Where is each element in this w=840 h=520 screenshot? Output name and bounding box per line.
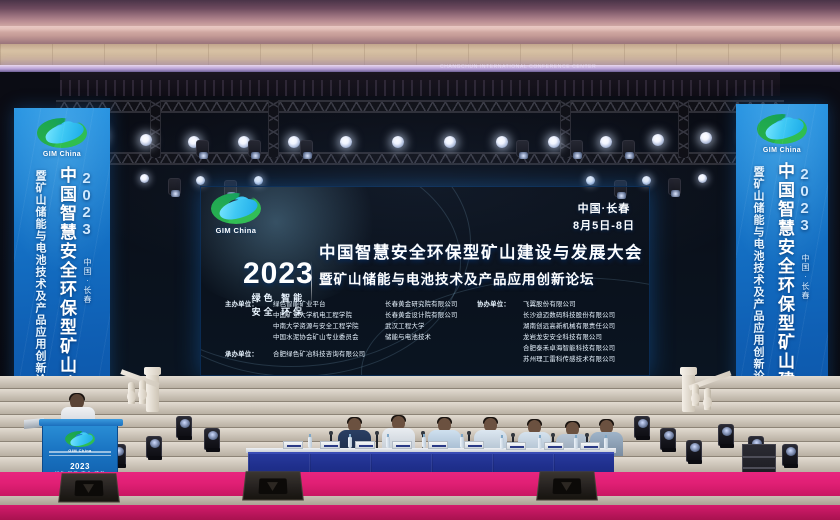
baluster bbox=[704, 388, 711, 410]
step bbox=[0, 389, 840, 402]
truss-vertical-left bbox=[150, 100, 161, 158]
moving-head-light bbox=[196, 140, 209, 157]
truss-vertical-midleft bbox=[268, 100, 279, 158]
lighting-truss-mid bbox=[56, 152, 784, 165]
name-plate bbox=[355, 441, 375, 449]
spotlight bbox=[140, 174, 149, 183]
name-plate bbox=[580, 442, 600, 450]
gim-logo-icon: GIM China bbox=[37, 118, 87, 158]
host-label: 主办单位： bbox=[225, 299, 273, 310]
credits-block: 主办单位： 绿色智能矿业平台 长春黄金研究院有限公司 中国矿业大学机电工程学院 … bbox=[225, 299, 639, 360]
cohost-item: 龙岩龙安安全科技有限公司 bbox=[523, 332, 615, 343]
spotlight bbox=[700, 132, 712, 144]
stage-carpet bbox=[0, 472, 840, 498]
baluster bbox=[692, 384, 699, 406]
floor-moving-light bbox=[718, 424, 734, 446]
hall-sign-text: CHANGCHUN INTERNATIONAL CONFERENCE CENTE… bbox=[440, 64, 596, 70]
host-item: 绿色智能矿业平台 bbox=[273, 299, 385, 310]
spotlight bbox=[288, 136, 300, 148]
stage-monitor-wedge bbox=[58, 473, 120, 502]
spotlight bbox=[444, 136, 456, 148]
lighting-truss-top bbox=[56, 100, 784, 113]
table-microphone bbox=[376, 434, 378, 449]
spotlight bbox=[652, 134, 664, 146]
host-item: 武汉工程大学 bbox=[385, 321, 491, 332]
step bbox=[0, 428, 840, 442]
host-item: 长春黄金研究院有限公司 bbox=[385, 299, 491, 310]
cohost-item: 湖南创远高新机械有限责任公司 bbox=[523, 321, 615, 332]
water-bottle bbox=[604, 438, 608, 449]
cohost-label: 协办单位： bbox=[477, 299, 523, 365]
stone-cornice bbox=[0, 44, 840, 66]
moving-head-light bbox=[248, 140, 261, 157]
spotlight bbox=[392, 136, 404, 148]
spacer bbox=[225, 321, 273, 332]
water-bottle bbox=[422, 437, 426, 448]
conference-stage-photo: CHANGCHUN INTERNATIONAL CONFERENCE CENTE… bbox=[0, 0, 840, 520]
floor-moving-light bbox=[176, 416, 192, 438]
stage-monitor-wedge bbox=[242, 471, 304, 500]
cohost-list: 飞翼股份有限公司 长沙迪迈数码科技股份有限公司 湖南创远高新机械有限责任公司 龙… bbox=[523, 299, 615, 365]
organizer-label: 承办单位： bbox=[225, 349, 273, 360]
host-item: 中南大学资源与安全工程学院 bbox=[273, 321, 385, 332]
name-plate bbox=[283, 441, 303, 449]
spotlight bbox=[586, 176, 595, 185]
name-plate bbox=[544, 442, 564, 450]
name-plate bbox=[320, 441, 340, 449]
credits-cohost-block: 协办单位： 飞翼股份有限公司 长沙迪迈数码科技股份有限公司 湖南创远高新机械有限… bbox=[477, 299, 615, 365]
gim-logo-icon: GIM China bbox=[65, 431, 95, 453]
cohost-item: 合肥泰禾卓海智能科技有限公司 bbox=[523, 343, 615, 354]
host-item: 中国水泥协会矿山专业委员会 bbox=[273, 332, 385, 343]
cohost-item: 飞翼股份有限公司 bbox=[523, 299, 615, 310]
truss-vertical-right bbox=[678, 100, 689, 158]
water-bottle bbox=[348, 437, 352, 448]
name-plate bbox=[464, 441, 484, 449]
stage-monitor-wedge bbox=[536, 471, 598, 500]
moving-head-light bbox=[668, 178, 681, 195]
floor-moving-light bbox=[660, 428, 676, 450]
baluster bbox=[139, 380, 146, 404]
spotlight bbox=[496, 136, 508, 148]
cohost-item: 苏州理工雷科传感技术有限公司 bbox=[523, 354, 615, 365]
water-bottle bbox=[460, 437, 464, 448]
floor-moving-light bbox=[204, 428, 220, 450]
moving-head-light bbox=[168, 178, 181, 195]
step bbox=[0, 402, 840, 415]
spotlight bbox=[196, 176, 205, 185]
spotlight bbox=[600, 136, 612, 148]
spotlight bbox=[254, 176, 263, 185]
host-item: 中国矿业大学机电工程学院 bbox=[273, 310, 385, 321]
host-item: 长春黄金设计院有限公司 bbox=[385, 310, 491, 321]
event-title-main: 中国智慧安全环保型矿山建设与发展大会 bbox=[319, 239, 641, 263]
podium-text-lines bbox=[49, 451, 111, 458]
ceiling-led-strip bbox=[0, 65, 840, 72]
name-plate bbox=[428, 441, 448, 449]
podium-top-surface bbox=[39, 419, 123, 426]
gim-logo-icon: GIM China bbox=[211, 193, 261, 235]
main-led-screen: GIM China 中国·长春 8月5日-8日 2023 绿色 智能 安全 环保… bbox=[200, 186, 650, 376]
water-bottle bbox=[386, 437, 390, 448]
spotlight bbox=[548, 136, 560, 148]
event-dates: 8月5日-8日 bbox=[573, 218, 635, 235]
water-bottle bbox=[538, 438, 542, 449]
moving-head-light bbox=[570, 140, 583, 157]
event-year: 2023 bbox=[243, 259, 314, 289]
water-bottle bbox=[574, 438, 578, 449]
baluster bbox=[128, 382, 135, 404]
hall-ceiling bbox=[0, 0, 840, 46]
event-location-dates: 中国·长春 8月5日-8日 bbox=[573, 201, 635, 235]
event-title-block: 中国智慧安全环保型矿山建设与发展大会 暨矿山储能与电池技术及产品应用创新论坛 bbox=[319, 239, 641, 288]
event-location: 中国·长春 bbox=[573, 201, 635, 218]
organizer-value: 合肥绿色矿冶科技咨询有限公司 bbox=[273, 349, 365, 360]
moving-head-light bbox=[300, 140, 313, 157]
floor-moving-light bbox=[782, 444, 798, 466]
floor-moving-light bbox=[686, 440, 702, 462]
cohost-item: 长沙迪迈数码科技股份有限公司 bbox=[523, 310, 615, 321]
water-bottle bbox=[500, 438, 504, 449]
step bbox=[0, 415, 840, 428]
moving-head-light bbox=[622, 140, 635, 157]
event-title-sub: 暨矿山储能与电池技术及产品应用创新论坛 bbox=[319, 268, 641, 288]
name-plate bbox=[392, 441, 412, 449]
podium-year: 2023 bbox=[43, 462, 117, 471]
host-item: 储能与电池技术 bbox=[385, 332, 491, 343]
floor-moving-light bbox=[146, 436, 162, 458]
spotlight bbox=[140, 134, 152, 146]
spacer bbox=[225, 332, 273, 343]
moving-head-light bbox=[516, 140, 529, 157]
spotlight bbox=[340, 136, 352, 148]
floor-moving-light bbox=[634, 416, 650, 438]
spotlight bbox=[698, 174, 707, 183]
gim-logo-icon: GIM China bbox=[757, 114, 807, 154]
spotlight bbox=[642, 176, 651, 185]
spacer bbox=[225, 310, 273, 321]
water-bottle bbox=[308, 437, 312, 448]
lower-carpet bbox=[0, 505, 840, 520]
name-plate bbox=[506, 442, 526, 450]
